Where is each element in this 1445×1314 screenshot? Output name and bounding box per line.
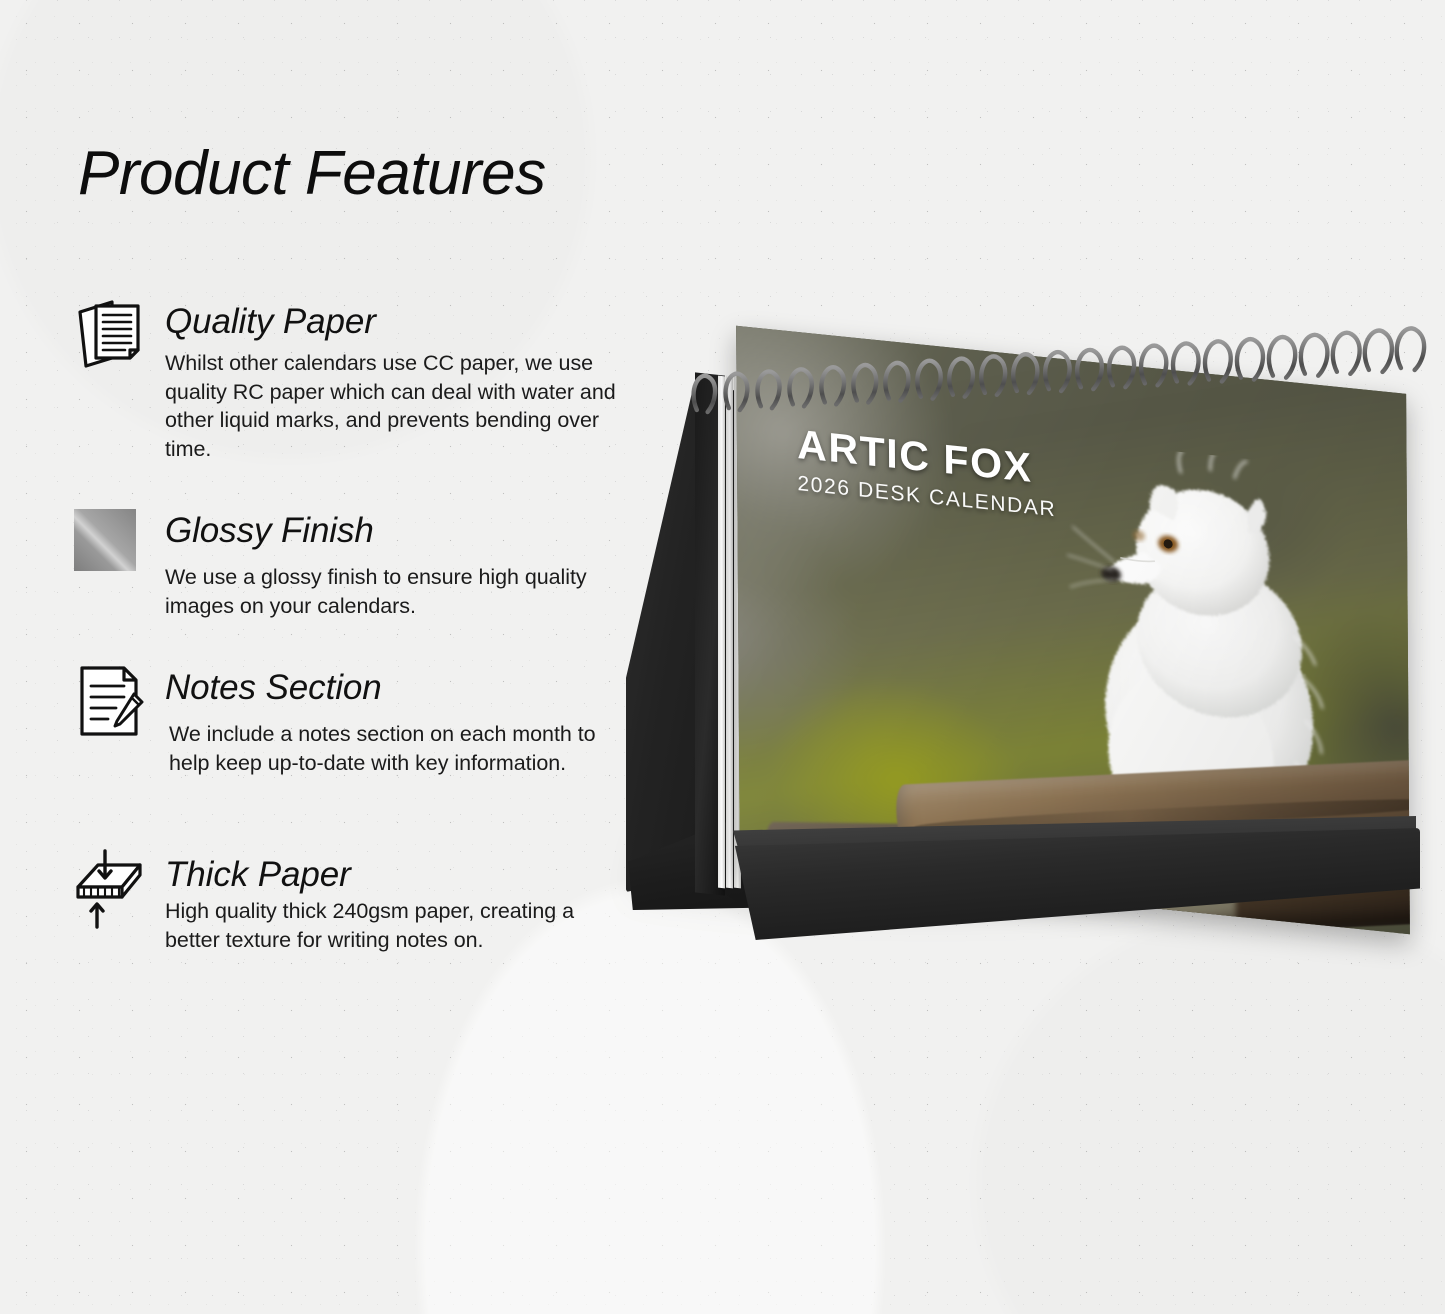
spiral-loop (885, 363, 908, 401)
glossy-square-icon (72, 507, 138, 573)
spiral-loop (981, 356, 1005, 394)
feature-title: Notes Section (165, 668, 382, 708)
spiral-loop (1237, 339, 1263, 379)
spiral-loop (949, 359, 973, 397)
paper-thickness-icon (72, 849, 150, 929)
spiral-loop (1269, 337, 1295, 378)
spiral-loop (1141, 346, 1166, 386)
feature-title: Thick Paper (165, 855, 351, 895)
spiral-loop (821, 367, 844, 404)
spiral-loop (917, 361, 940, 399)
page-edge (718, 376, 725, 889)
document-pencil-icon (72, 662, 150, 742)
spiral-loop (1397, 328, 1424, 370)
stacked-paper-icon (72, 296, 150, 376)
spiral-loop (853, 365, 876, 402)
spiral-loop (789, 369, 811, 406)
feature-title: Glossy Finish (165, 511, 374, 551)
spiral-loop (1173, 343, 1199, 383)
desk-calendar-product-image: ARTIC FOX 2026 DESK CALENDAR (600, 330, 1420, 980)
spiral-loop (1205, 341, 1231, 381)
spiral-loop (726, 374, 748, 410)
spiral-loop (1077, 350, 1102, 389)
features-column: Product Features Quality Paper Whilst ot… (0, 0, 660, 1314)
spiral-loop (757, 372, 779, 409)
page-edge (726, 376, 733, 889)
feature-description: Whilst other calendars use CC paper, we … (165, 349, 627, 463)
feature-description: We include a notes section on each month… (169, 720, 631, 777)
spiral-loop (1013, 354, 1037, 393)
feature-title: Quality Paper (165, 302, 376, 342)
feature-description: High quality thick 240gsm paper, creatin… (165, 897, 627, 954)
spiral-loop (1333, 333, 1360, 374)
spiral-loop (1109, 348, 1134, 387)
feature-description: We use a glossy finish to ensure high qu… (165, 563, 627, 620)
spiral-loop (1045, 352, 1069, 391)
page-title: Product Features (78, 138, 546, 209)
spiral-wire-binding (692, 330, 1422, 422)
spiral-loop (1365, 331, 1392, 372)
spiral-loop (1301, 335, 1328, 376)
spiral-loop (694, 376, 716, 412)
